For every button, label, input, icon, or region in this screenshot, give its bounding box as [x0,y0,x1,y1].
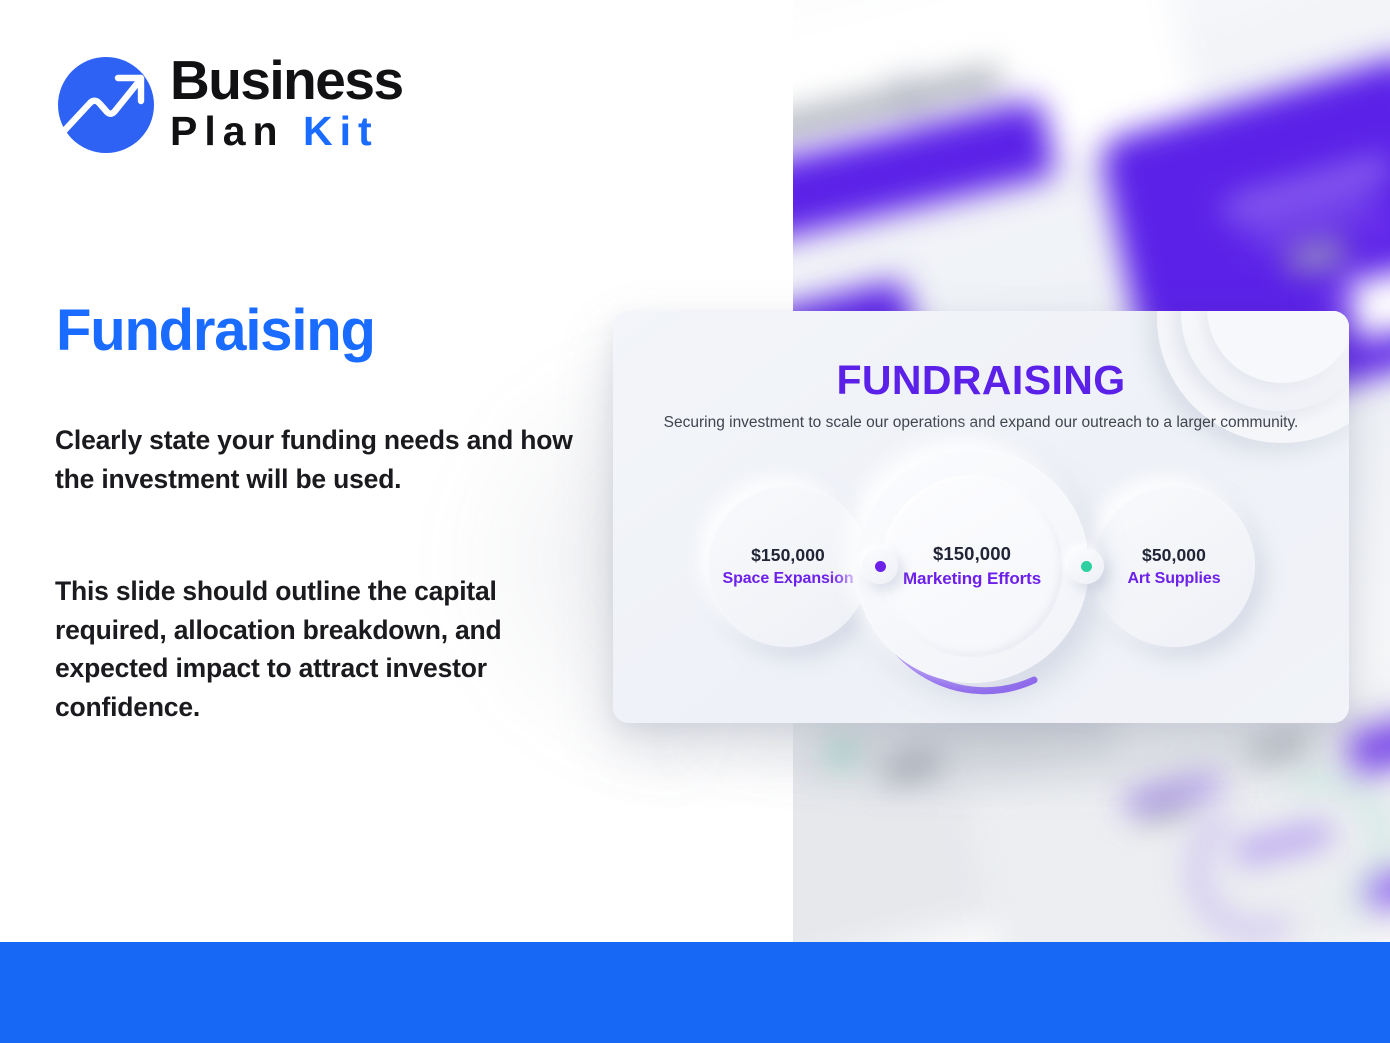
slide-title: FUNDRAISING [613,357,1349,404]
footer-bar [0,942,1390,1043]
description-paragraph-2: This slide should outline the capital re… [55,572,590,727]
allocation-label: Marketing Efforts [903,569,1041,589]
connector-dot-right-core [1081,561,1092,572]
slide-preview-card[interactable]: FUNDRAISING Securing investment to scale… [613,311,1349,723]
connector-dot-left [862,548,898,584]
connector-dot-right [1068,548,1104,584]
bg-purple-dot [1366,215,1390,241]
allocation-label: Space Expansion [723,570,854,588]
description-paragraph-1: Clearly state your funding needs and how… [55,421,595,498]
brand-name-line-2: Plan Kit [170,111,403,152]
page-title: Fundraising [56,297,375,364]
brand-name-plan: Plan [170,108,285,154]
growth-arrow-circle-icon [56,55,156,155]
allocation-amount: $150,000 [933,543,1011,565]
brand-logo: Business Plan Kit [56,53,403,156]
brand-name-line-1: Business [170,53,403,108]
connector-dot-left-core [875,561,886,572]
brand-name-kit: Kit [303,108,379,154]
fundraising-allocation-diagram: $150,000 Space Expansion $150,000 Market… [613,461,1349,711]
allocation-amount: $50,000 [1142,545,1206,566]
allocation-amount: $150,000 [751,545,825,566]
slide-root: Business Plan Kit Fundraising Clearly st… [0,0,1390,1043]
allocation-node-art-supplies[interactable]: $50,000 Art Supplies [1093,485,1255,647]
allocation-label: Art Supplies [1127,570,1220,588]
